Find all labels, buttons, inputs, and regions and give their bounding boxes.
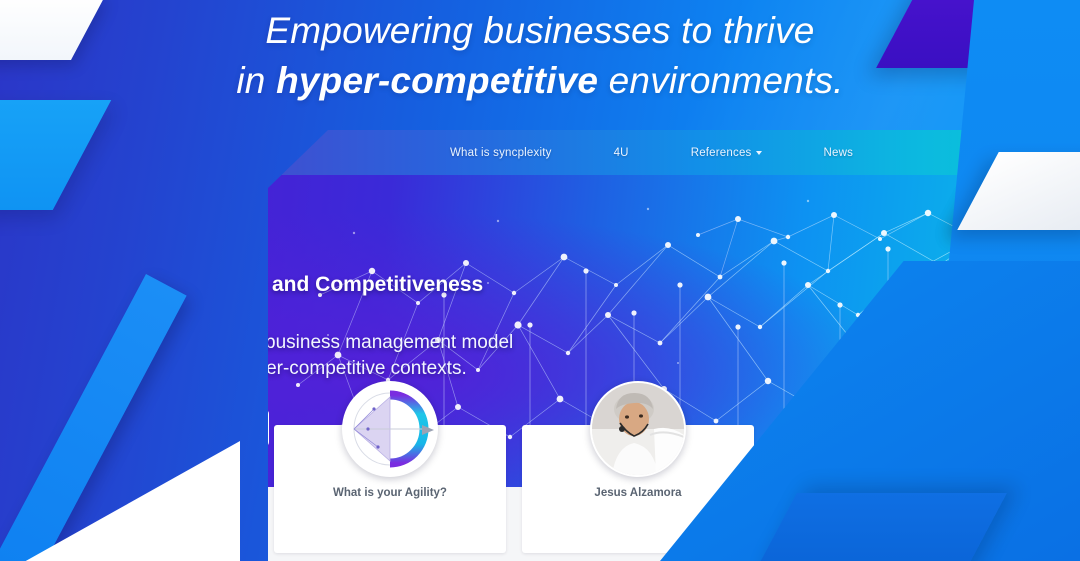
website-navbar: What is syncplexity 4U References News (268, 130, 1008, 175)
syncplexity-logo-icon (342, 381, 438, 477)
chevron-down-icon (756, 151, 762, 155)
hero-paragraph: A new business management model for hype… (268, 330, 808, 382)
headline-emphasis: hyper-competitive (276, 60, 598, 101)
card-title: What is your Agility? (274, 487, 506, 499)
hero-heading: Agility and Competitiveness (268, 273, 762, 297)
banner-headline: Empowering businesses to thrive in hyper… (0, 6, 1080, 106)
promo-banner: Empowering businesses to thrive in hyper… (0, 0, 1080, 561)
nav-item-references[interactable]: References (691, 147, 762, 159)
headline-line-1: Empowering businesses to thrive (0, 6, 1080, 56)
nav-item-label: 4U (614, 147, 629, 159)
nav-item-label: News (824, 147, 854, 159)
headline-prefix: in (236, 60, 276, 101)
hero-paragraph-line-1: A new business management model (268, 330, 808, 356)
nav-item-label: References (691, 147, 752, 159)
hero-paragraph-line-2: for hyper-competitive contexts. (268, 356, 808, 382)
speaker-portrait-image (590, 381, 686, 477)
card-what-is-your-agility[interactable]: What is your Agility? (274, 425, 506, 553)
nav-item-label: What is syncplexity (450, 147, 552, 159)
nav-item-news[interactable]: News (824, 147, 854, 159)
headline-line-2: in hyper-competitive environments. (0, 56, 1080, 106)
headline-suffix: environments. (598, 60, 843, 101)
nav-item-what-is-syncplexity[interactable]: What is syncplexity (450, 147, 552, 159)
nav-item-4u[interactable]: 4U (614, 147, 629, 159)
